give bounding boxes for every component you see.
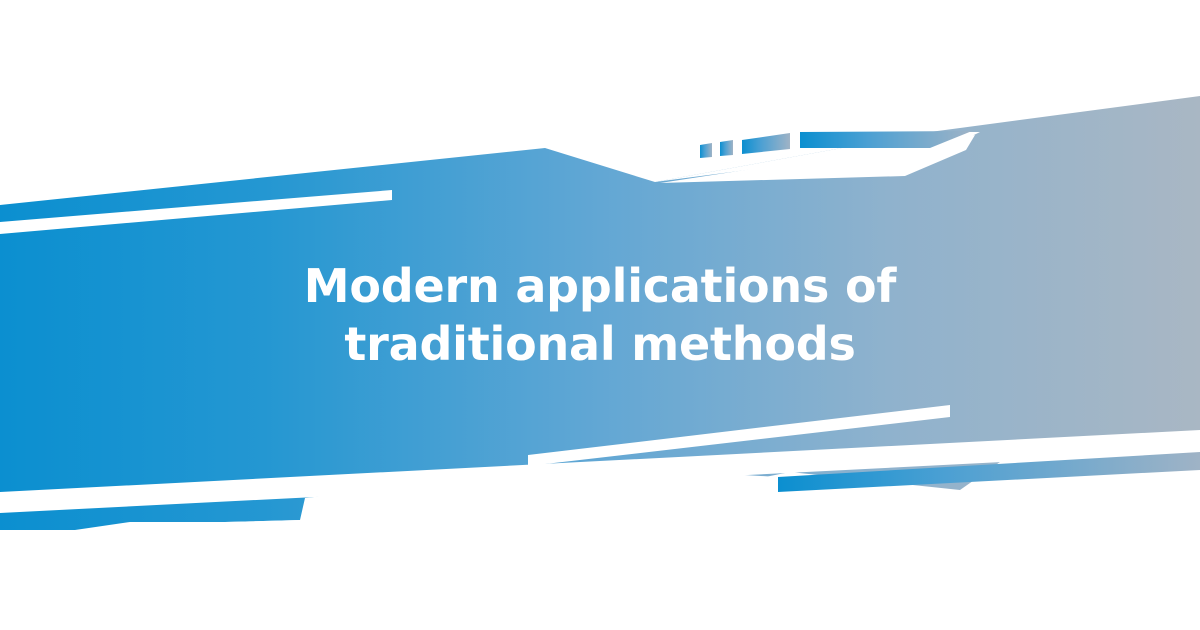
dash-mark-3: [742, 133, 790, 154]
dash-mark-1: [700, 143, 712, 158]
banner-background-graphic: [0, 0, 1200, 630]
hero-banner: Modern applications of traditional metho…: [0, 0, 1200, 630]
dash-mark-2: [720, 140, 733, 156]
